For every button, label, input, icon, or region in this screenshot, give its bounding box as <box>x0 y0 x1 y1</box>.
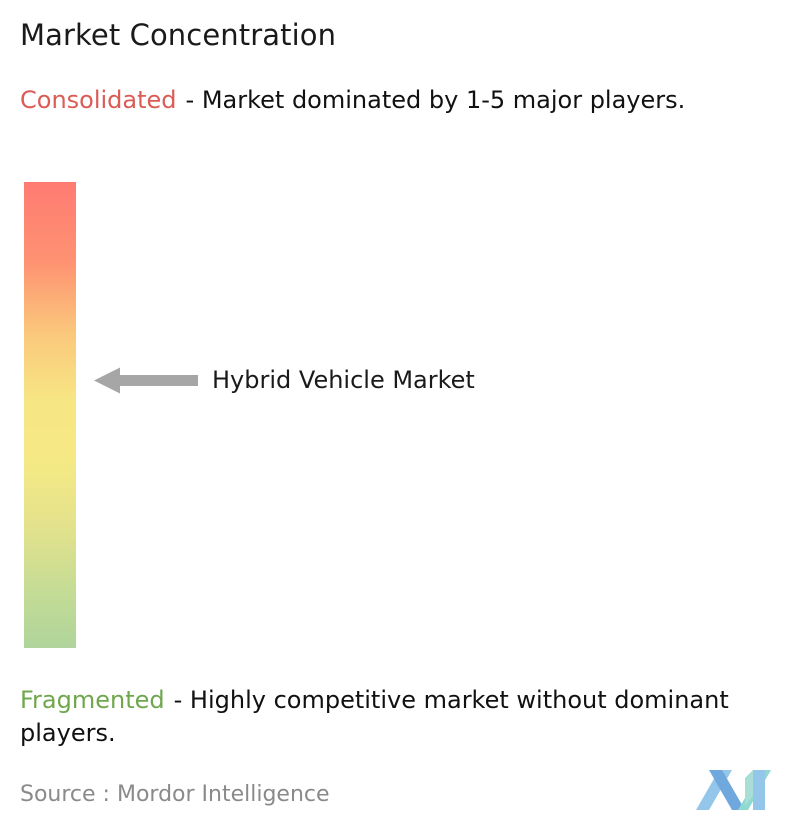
market-marker: Hybrid Vehicle Market <box>94 367 475 394</box>
source-value: Mordor Intelligence <box>117 782 330 807</box>
arrow-left-icon <box>94 367 198 394</box>
legend-consolidated-description: - Market dominated by 1-5 major players. <box>186 86 686 114</box>
market-marker-label: Hybrid Vehicle Market <box>212 367 475 394</box>
concentration-scale-bar <box>24 182 76 648</box>
legend-fragmented-keyword: Fragmented <box>20 686 165 714</box>
source-attribution: Source :Mordor Intelligence <box>20 780 330 810</box>
legend-fragmented: Fragmented- Highly competitive market wi… <box>20 684 796 750</box>
market-concentration-infographic: Market Concentration Consolidated- Marke… <box>0 0 796 834</box>
source-label: Source : <box>20 782 110 807</box>
page-title: Market Concentration <box>20 16 336 54</box>
mordor-intelligence-logo <box>696 766 778 814</box>
legend-consolidated-keyword: Consolidated <box>20 86 177 114</box>
legend-consolidated: Consolidated- Market dominated by 1-5 ma… <box>20 84 776 117</box>
